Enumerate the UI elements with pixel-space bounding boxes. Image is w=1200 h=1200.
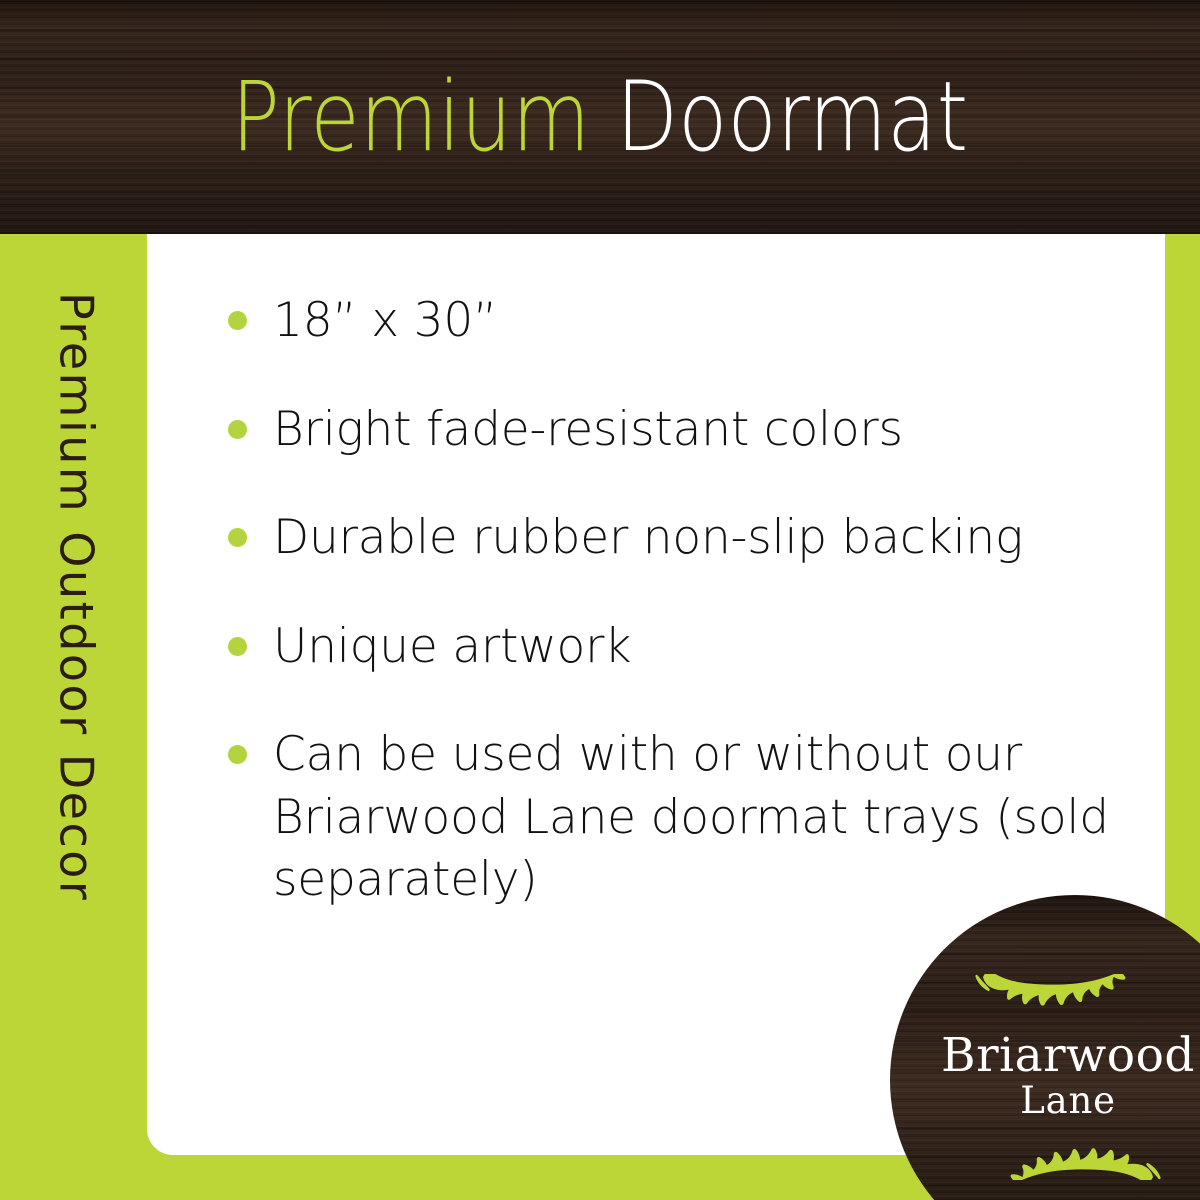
vertical-category-label: Premium Outdoor Decor xyxy=(0,234,147,1200)
list-item-label: Durable rubber non-slip backing xyxy=(273,507,1115,570)
vertical-category-text: Premium Outdoor Decor xyxy=(50,292,104,902)
brand-name-line1: Briarwood xyxy=(941,1032,1195,1081)
list-item-label: 18” x 30” xyxy=(273,290,1115,353)
brand-name-line2: Lane xyxy=(1020,1081,1116,1122)
bullet-dot-icon xyxy=(228,311,247,330)
page-title-rest: Doormat xyxy=(590,61,968,173)
page-title: Premium Doormat xyxy=(100,69,1100,165)
product-infographic: Premium Doormat 18” x 30” Bright fade-re… xyxy=(0,0,1200,1200)
oak-leaf-icon xyxy=(975,1124,1161,1180)
bullet-dot-icon xyxy=(228,528,247,547)
bullet-dot-icon xyxy=(228,420,247,439)
list-item-label: Bright fade-resistant colors xyxy=(273,399,1115,462)
list-item: Unique artwork xyxy=(225,616,1115,679)
bullet-dot-icon xyxy=(228,745,247,764)
list-item-label: Can be used with or without our Briarwoo… xyxy=(273,724,1115,912)
brand-logo-inner: Briarwood Lane xyxy=(943,974,1193,1180)
list-item-label: Unique artwork xyxy=(273,616,1115,679)
header-banner: Premium Doormat xyxy=(0,0,1200,234)
feature-list: 18” x 30” Bright fade-resistant colors D… xyxy=(147,234,1165,912)
list-item: Durable rubber non-slip backing xyxy=(225,507,1115,570)
page-title-accent: Premium xyxy=(232,61,591,173)
list-item: 18” x 30” xyxy=(225,290,1115,353)
bullet-dot-icon xyxy=(228,637,247,656)
list-item: Can be used with or without our Briarwoo… xyxy=(225,724,1115,912)
list-item: Bright fade-resistant colors xyxy=(225,399,1115,462)
oak-leaf-icon xyxy=(975,974,1161,1030)
